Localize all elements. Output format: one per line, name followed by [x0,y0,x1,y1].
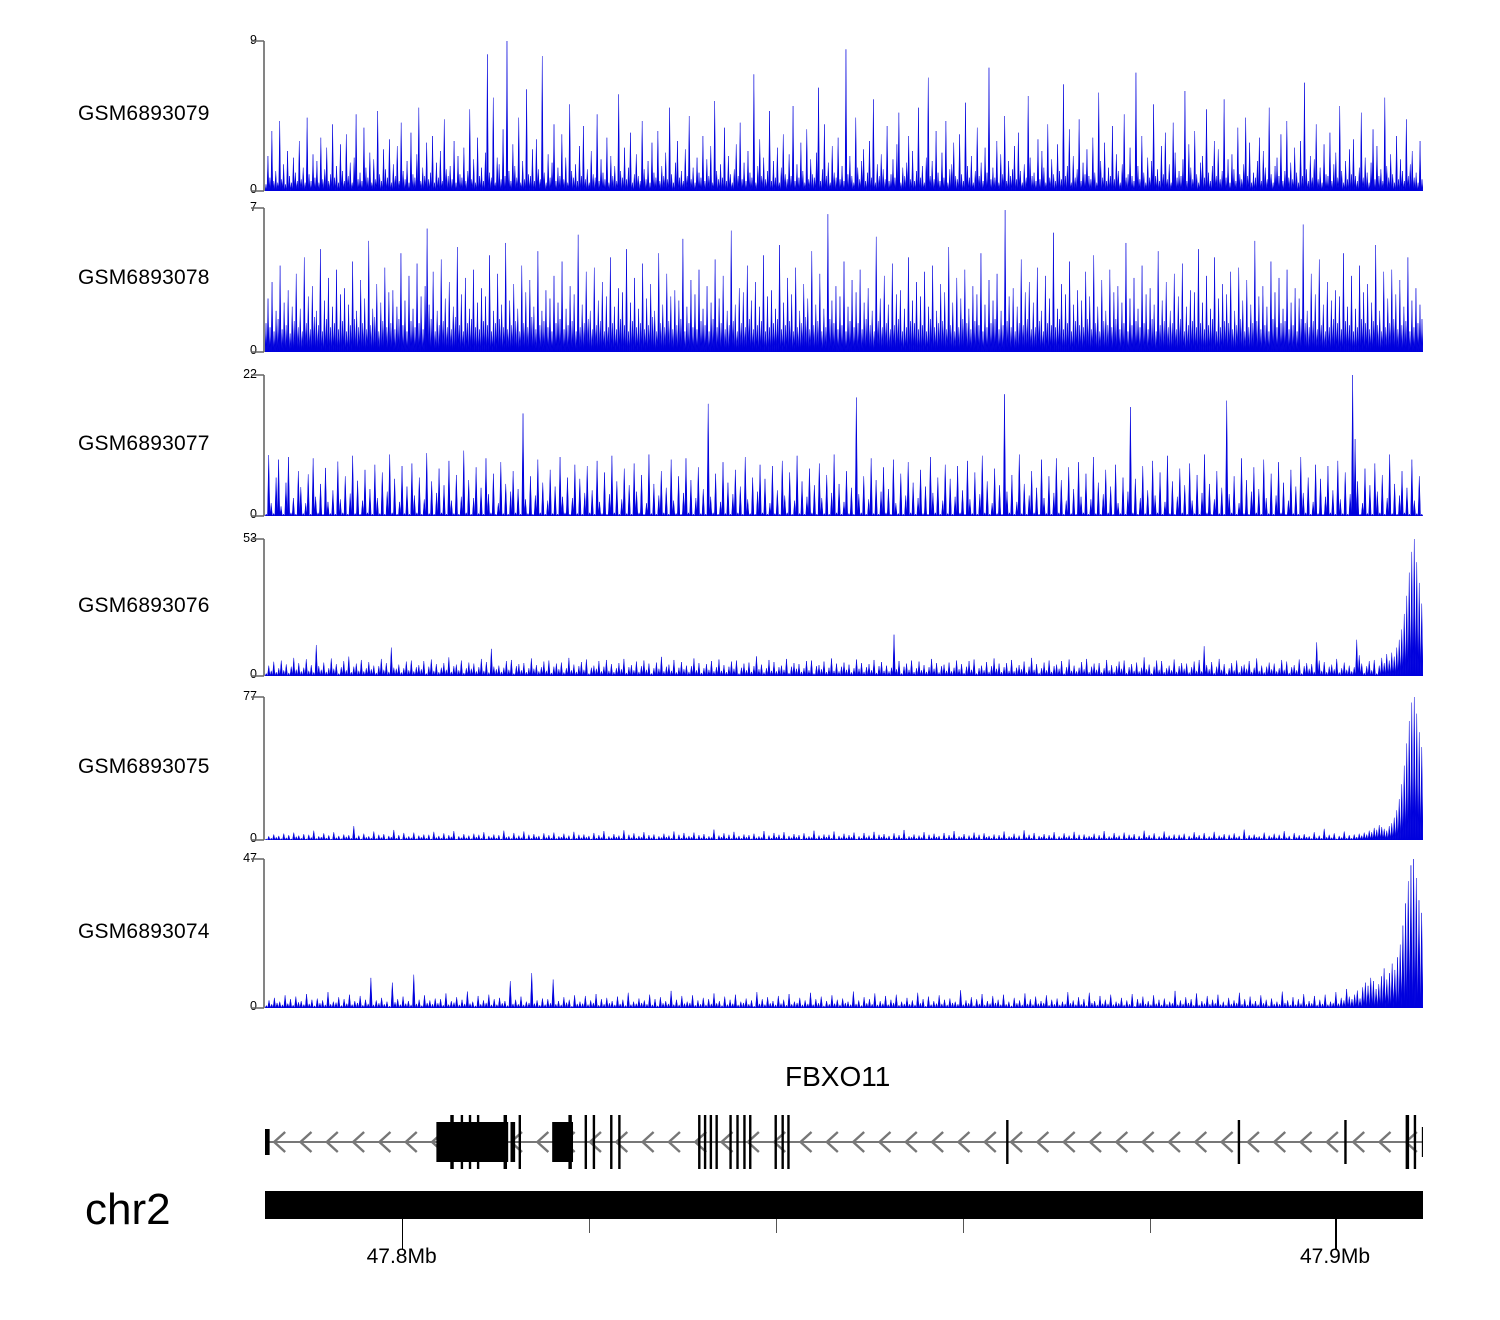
track-sample-label: GSM6893078 [78,266,210,290]
ruler-minor-tick [1150,1219,1152,1233]
track-coverage-plot [265,41,1423,191]
ruler-minor-tick [589,1219,591,1233]
track-coverage-plot [265,539,1423,676]
coordinate-ruler: 47.8Mb47.9Mb [0,1219,1500,1299]
chromosome-bar [265,1191,1423,1219]
track-axis-bracket [247,207,267,353]
track-coverage-plot [265,697,1423,840]
gene-annotation-track[interactable]: FBXO11 [0,1060,1500,1175]
ruler-minor-tick [963,1219,965,1233]
track-axis-bracket [247,374,267,517]
track-coverage-plot [265,208,1423,352]
track-coverage-plot [265,375,1423,516]
gene-structure [265,1108,1423,1176]
track-sample-label: GSM6893076 [78,594,210,618]
ruler-coordinate-label: 47.8Mb [367,1245,437,1269]
track-axis-bracket [247,538,267,677]
track-sample-label: GSM6893075 [78,755,210,779]
gene-label: FBXO11 [785,1061,890,1093]
track-sample-label: GSM6893079 [78,102,210,126]
track-sample-label: GSM6893074 [78,920,210,944]
track-sample-label: GSM6893077 [78,432,210,456]
gene-model-svg [265,1108,1423,1176]
track-coverage-plot [265,859,1423,1008]
ruler-minor-tick [776,1219,778,1233]
ruler-coordinate-label: 47.9Mb [1300,1245,1370,1269]
track-axis-bracket [247,696,267,841]
track-axis-bracket [247,40,267,192]
track-axis-bracket [247,858,267,1009]
